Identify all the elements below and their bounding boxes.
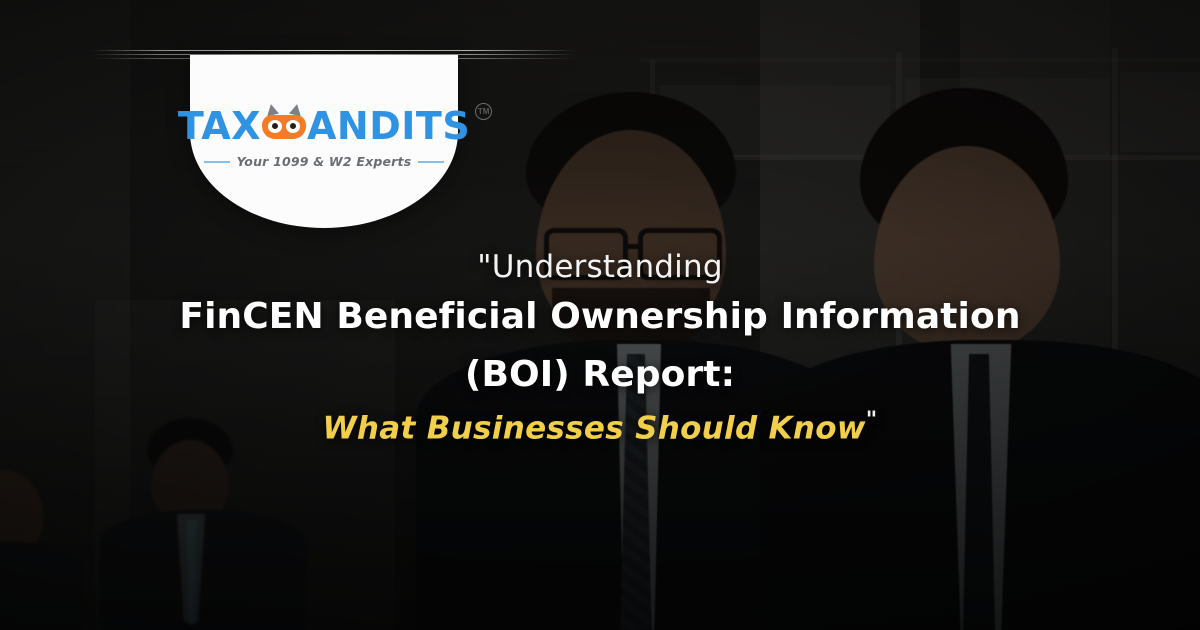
headline-line-1: "Understanding	[40, 248, 1160, 288]
logo-lockup: TAX ANDITS TM Your 1099 & W2 Experts	[190, 107, 458, 169]
headline-line-3: (BOI) Report:	[40, 346, 1160, 404]
decorative-rule	[92, 50, 576, 51]
headline-closing-quote: "	[866, 408, 878, 433]
headline-line-4: What Businesses Should Know"	[40, 404, 1160, 452]
mask-pupil-left	[272, 123, 278, 129]
tagline-dash-left-icon	[204, 161, 230, 163]
bandit-mask-icon	[262, 113, 306, 143]
headline-line-4-text: What Businesses Should Know	[322, 411, 865, 447]
logo-text-left: TAX	[178, 107, 261, 145]
tagline-text: Your 1099 & W2 Experts	[237, 154, 412, 169]
logo-tagline: Your 1099 & W2 Experts	[204, 154, 445, 169]
tagline-dash-right-icon	[418, 161, 444, 163]
logo-wordmark: TAX ANDITS TM	[178, 107, 470, 145]
mask-pupil-right	[290, 123, 296, 129]
banner-root: TAX ANDITS TM Your 1099 & W2 Experts	[0, 0, 1200, 630]
logo-text-right: ANDITS	[307, 107, 470, 145]
headline-block: "Understanding FinCEN Beneficial Ownersh…	[0, 248, 1200, 453]
headline-line-2: FinCEN Beneficial Ownership Information	[40, 288, 1160, 346]
